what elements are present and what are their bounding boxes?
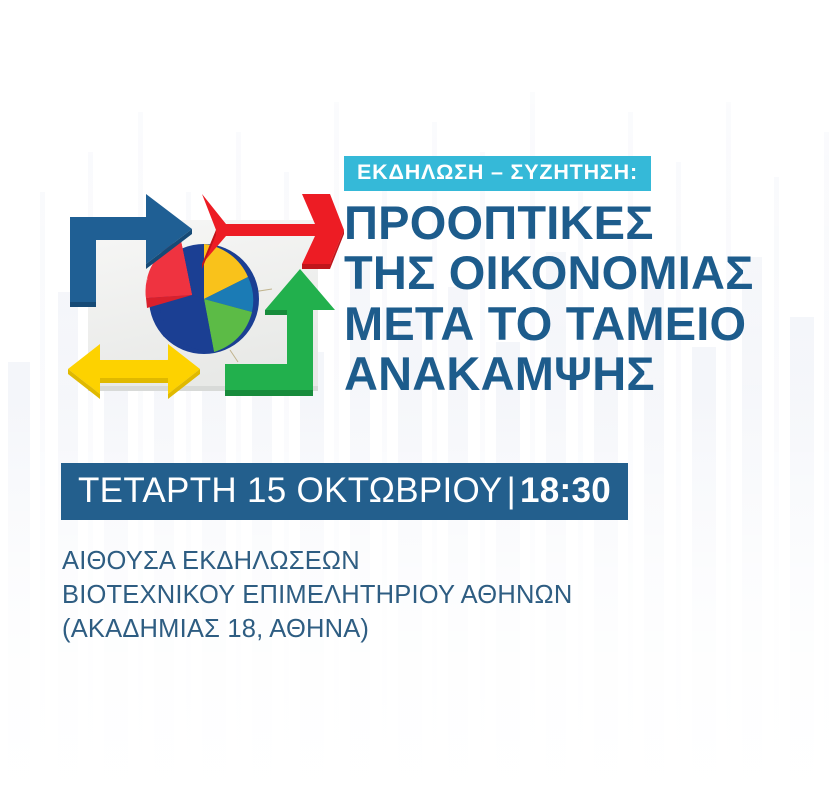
- headline-line-3: ΜΕΤΑ ΤΟ ΤΑΜΕΙΟ: [344, 299, 814, 349]
- headline-line-1: ΠΡΟΟΠΤΙΚΕΣ: [344, 198, 814, 248]
- venue-address: ΑΙΘΟΥΣΑ ΕΚΔΗΛΩΣΕΩΝ ΒΙΟΤΕΧΝΙΚΟΥ ΕΠΙΜΕΛΗΤΗ…: [62, 545, 572, 647]
- background-bar: [40, 192, 45, 792]
- event-date: ΤΕΤΑΡΤΗ 15 ΟΚΤΩΒΡΙΟΥ: [78, 471, 503, 510]
- date-time-banner: ΤΕΤΑΡΤΗ 15 ΟΚΤΩΒΡΙΟΥ|18:30: [61, 463, 628, 520]
- kicker-badge: ΕΚΔΗΛΩΣΗ – ΣΥΖΗΤΗΣΗ:: [344, 156, 651, 191]
- background-bar: [824, 132, 829, 792]
- venue-line-3: (ΑΚΑΔΗΜΙΑΣ 18, ΑΘΗΝΑ): [62, 613, 572, 647]
- background-bar: [8, 362, 30, 792]
- pie-chart-with-arrows-photo: [62, 172, 344, 434]
- headline-line-2: ΤΗΣ ΟΙΚΟΝΟΜΙΑΣ: [344, 248, 814, 298]
- date-time-separator: |: [503, 471, 520, 510]
- event-time: 18:30: [520, 471, 611, 510]
- venue-line-1: ΑΙΘΟΥΣΑ ΕΚΔΗΛΩΣΕΩΝ: [62, 545, 572, 579]
- headline-line-4: ΑΝΑΚΑΜΨΗΣ: [344, 349, 814, 399]
- page-title: ΠΡΟΟΠΤΙΚΕΣ ΤΗΣ ΟΙΚΟΝΟΜΙΑΣ ΜΕΤΑ ΤΟ ΤΑΜΕΙΟ…: [344, 198, 814, 399]
- event-poster: ΕΚΔΗΛΩΣΗ – ΣΥΖΗΤΗΣΗ: ΠΡΟΟΠΤΙΚΕΣ ΤΗΣ ΟΙΚΟ…: [0, 0, 838, 792]
- background-bar: [692, 347, 716, 792]
- venue-line-2: ΒΙΟΤΕΧΝΙΚΟΥ ΕΠΙΜΕΛΗΤΗΡΙΟΥ ΑΘΗΝΩΝ: [62, 579, 572, 613]
